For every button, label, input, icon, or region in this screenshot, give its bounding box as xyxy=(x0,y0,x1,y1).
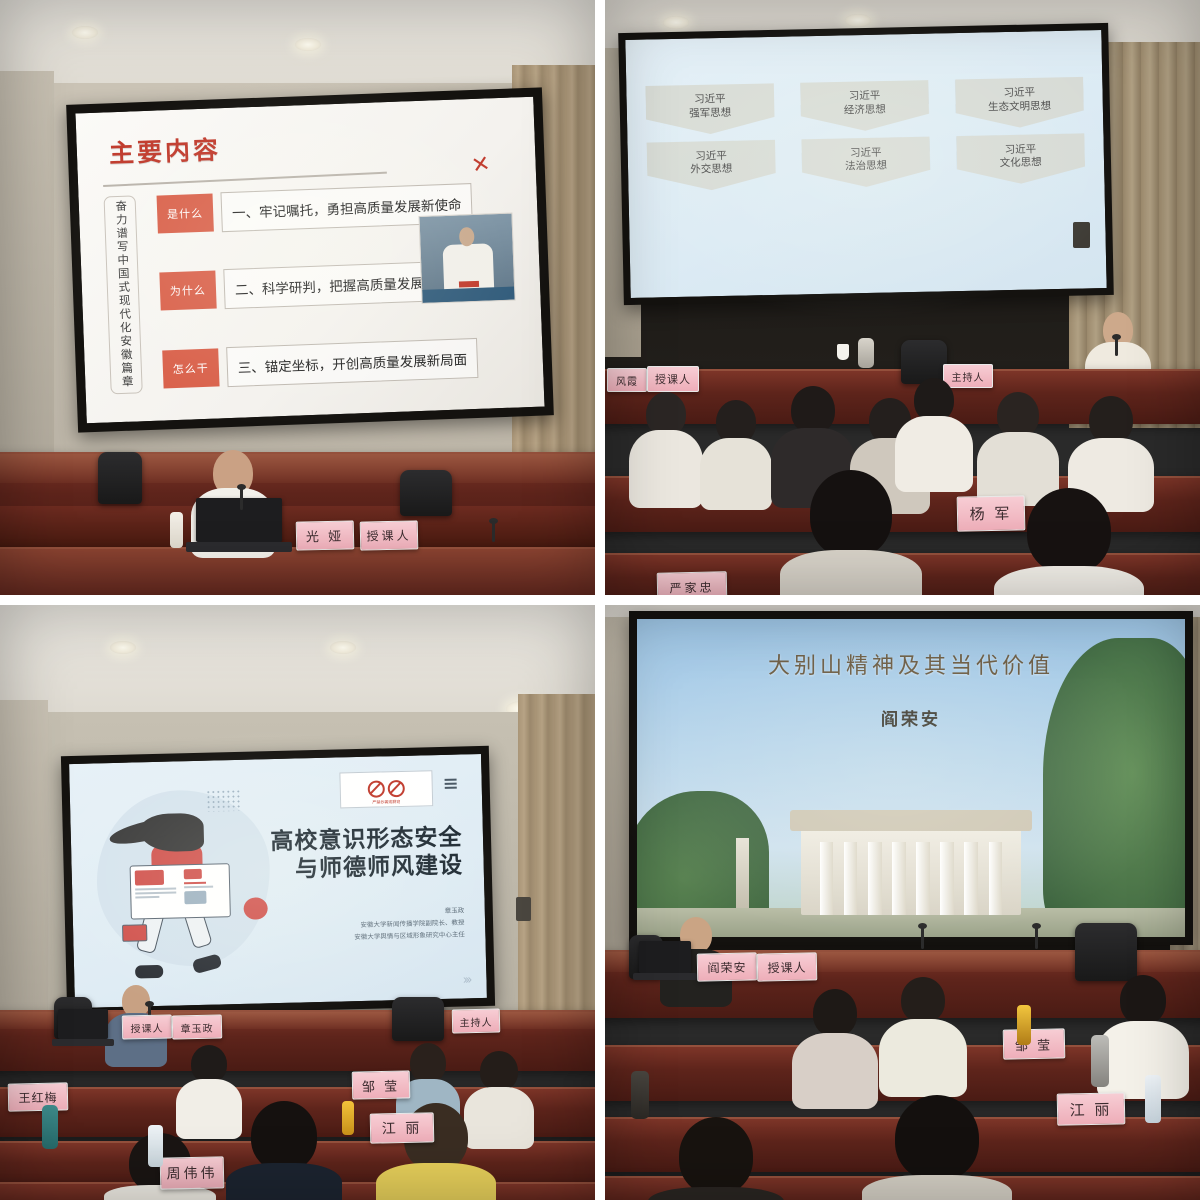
microphone xyxy=(492,522,495,542)
nameplate-text: 授课人 xyxy=(130,1019,163,1035)
person-head xyxy=(191,1045,227,1083)
ceiling-light xyxy=(295,38,321,51)
audience-person xyxy=(799,989,871,1105)
water-bottle xyxy=(170,512,183,548)
prohibition-icon xyxy=(367,781,384,798)
arrow-decoration: ››› xyxy=(463,971,470,986)
card-thumbnail xyxy=(184,869,203,879)
thought-box-grid: 习近平 强军思想 习近平 经济思想 习近平 生态文明思想 习近平 外交思想 习近… xyxy=(645,77,1085,185)
person-body xyxy=(648,1187,784,1200)
front-table xyxy=(0,547,595,595)
nameplate-text: 周伟伟 xyxy=(166,1162,217,1183)
card-line xyxy=(135,888,176,891)
person-body xyxy=(792,1033,878,1109)
nameplate-role: 授课人 xyxy=(647,366,699,392)
person-head xyxy=(410,1043,446,1083)
person-body xyxy=(994,566,1144,595)
inset-desk xyxy=(422,286,514,303)
photo-collage: 主要内容 ✕ 奋力谱写中国式现代化安徽篇章 是什么 一、牢记嘱托，勇担高质量发展… xyxy=(0,0,1200,1200)
slide-main-content: 主要内容 ✕ 奋力谱写中国式现代化安徽篇章 是什么 一、牢记嘱托，勇担高质量发展… xyxy=(75,97,544,424)
nameplate-text: 杨 军 xyxy=(969,503,1012,525)
person-head xyxy=(895,1095,979,1181)
person-body xyxy=(700,438,772,510)
water-bottle xyxy=(148,1125,163,1167)
thermos xyxy=(631,1071,649,1119)
nameplate-text: 阎荣安 xyxy=(707,958,746,976)
thought-box: 习近平 文化思想 xyxy=(956,133,1085,185)
nameplate-text: 章玉政 xyxy=(180,1019,213,1035)
slide-dabieshan-spirit: 大别山精神及其当代价值 阎荣安 xyxy=(637,619,1185,937)
thought-box: 习近平 生态文明思想 xyxy=(955,77,1084,129)
person-head xyxy=(901,977,945,1023)
lecture-room-3: 严禁抄袭或剽窃 高校意识形态安全 与师德师风建设 章玉政 安徽大学新闻传播学院副… xyxy=(0,605,595,1200)
person-body xyxy=(176,1079,242,1139)
thought-box: 习近平 法治思想 xyxy=(801,136,930,188)
nameplate-audience: 江 丽 xyxy=(370,1112,435,1143)
chair xyxy=(392,997,444,1041)
nameplate-text: 主持人 xyxy=(459,1013,492,1029)
nameplate-audience: 周伟伟 xyxy=(160,1156,225,1189)
audience-person xyxy=(180,1045,238,1137)
person-body xyxy=(376,1163,496,1200)
person-head xyxy=(810,470,892,558)
ceiling-light xyxy=(110,641,136,654)
person-head xyxy=(813,989,857,1037)
nameplate-text: 江 丽 xyxy=(1069,1098,1112,1120)
nameplate-text: 邹 莹 xyxy=(362,1075,401,1095)
nameplate-text: 风霞 xyxy=(616,373,638,388)
card-line xyxy=(135,896,160,899)
audience-person-foreground xyxy=(877,1095,997,1200)
outline-row: 怎么干 三、锚定坐标，开创高质量发展新局面 xyxy=(162,338,479,390)
handheld-microphone xyxy=(1115,338,1118,356)
water-bottle xyxy=(1145,1075,1161,1123)
desk-top xyxy=(0,454,595,483)
paper-cup xyxy=(837,344,849,360)
projector-screen-frame: 大别山精神及其当代价值 阎荣安 xyxy=(629,611,1193,945)
photo-panel-bottom-left[interactable]: 严禁抄袭或剽窃 高校意识形态安全 与师德师风建设 章玉政 安徽大学新闻传播学院副… xyxy=(0,605,595,1200)
juice-bottle xyxy=(1017,1005,1031,1045)
wood-wall-right xyxy=(518,694,595,1033)
audience-person-foreground xyxy=(1009,488,1129,595)
nameplate-text: 授课人 xyxy=(767,958,806,976)
audience-person-foreground xyxy=(791,470,911,595)
nameplate-speaker: 光 娅 xyxy=(296,520,355,550)
wall-panel-left xyxy=(0,700,48,1033)
nameplate-moderator: 主持人 xyxy=(452,1009,500,1034)
laptop[interactable] xyxy=(639,941,691,973)
wall-panel-left xyxy=(0,71,54,464)
nameplate-text: 严家忠 xyxy=(669,578,714,595)
illustration-avatar-icon xyxy=(244,897,268,920)
person-body xyxy=(780,550,922,595)
nameplate-text: 江 丽 xyxy=(382,1118,423,1139)
laptop[interactable] xyxy=(58,1009,108,1039)
photo-panel-bottom-right[interactable]: 大别山精神及其当代价值 阎荣安 阎荣安 授课人 xyxy=(605,605,1200,1200)
nameplate-role: 授课人 xyxy=(122,1014,172,1039)
nameplate-role: 授课人 xyxy=(360,520,419,550)
audience-person-foreground xyxy=(236,1101,332,1200)
person-head xyxy=(1089,396,1133,444)
audience-person-foreground xyxy=(661,1117,771,1200)
chair xyxy=(1075,923,1137,981)
slide-ideology-cover: 严禁抄袭或剽窃 高校意识形态安全 与师德师风建设 章玉政 安徽大学新闻传播学院副… xyxy=(69,754,487,1008)
slide-author: 阎荣安 xyxy=(637,705,1185,730)
monument xyxy=(736,838,750,908)
person-body xyxy=(879,1019,967,1097)
slide-subtitle: 章玉政 安徽大学新闻传播学院副院长、教授 安徽大学舆情与区域形象研究中心主任 xyxy=(266,906,465,947)
audience-person xyxy=(887,977,959,1095)
audience-person xyxy=(705,400,767,505)
audience-person xyxy=(633,392,699,502)
outline-tag: 是什么 xyxy=(156,193,213,233)
nameplate-audience: 王红梅 xyxy=(8,1082,69,1111)
person-body xyxy=(629,430,703,508)
nameplate-audience: 杨 军 xyxy=(957,495,1026,531)
memorial-building xyxy=(801,819,1020,914)
photo-panel-top-right[interactable]: 习近平 强军思想 习近平 经济思想 习近平 生态文明思想 习近平 外交思想 习近… xyxy=(605,0,1200,595)
thought-box: 习近平 外交思想 xyxy=(647,140,776,192)
thermos xyxy=(858,338,874,368)
slide-xi-thought-boxes: 习近平 强军思想 习近平 经济思想 习近平 生态文明思想 习近平 外交思想 习近… xyxy=(625,30,1106,298)
card-line xyxy=(135,892,176,895)
person-body xyxy=(862,1175,1012,1200)
nameplate-text: 授课人 xyxy=(366,527,411,545)
bird-logo-icon: ✕ xyxy=(469,150,492,179)
inset-nameplate xyxy=(459,280,479,287)
nameplate-role: 授课人 xyxy=(757,952,818,981)
person-body xyxy=(1097,1021,1189,1099)
card-block xyxy=(184,891,207,905)
slide-title-line2: 与师德师风建设 xyxy=(265,851,463,884)
projector-screen: 习近平 强军思想 习近平 经济思想 习近平 生态文明思想 习近平 外交思想 习近… xyxy=(625,30,1106,298)
side-label-text: 奋力谱写中国式现代化安徽篇章 xyxy=(113,200,134,389)
prohibition-icon xyxy=(387,780,404,797)
microphone xyxy=(921,927,924,949)
illustration-browser-card xyxy=(129,864,230,920)
title-underline xyxy=(103,172,387,187)
person-body xyxy=(226,1163,342,1200)
projector-screen: 大别山精神及其当代价值 阎荣安 xyxy=(637,619,1185,937)
badge-caption: 严禁抄袭或剽窃 xyxy=(341,798,432,806)
thermos xyxy=(1091,1035,1109,1087)
nameplate-audience: 江 丽 xyxy=(1057,1092,1126,1125)
card-line xyxy=(184,886,213,889)
card-line xyxy=(184,882,207,885)
outline-tag: 为什么 xyxy=(159,271,216,311)
chair xyxy=(98,452,142,504)
nameplate-audience: 严家忠 xyxy=(657,571,728,595)
illustration-shoe xyxy=(135,964,163,978)
nameplate-speaker: 章玉政 xyxy=(172,1014,222,1039)
microphone xyxy=(1035,927,1038,949)
projector-screen: 严禁抄袭或剽窃 高校意识形态安全 与师德师风建设 章玉政 安徽大学新闻传播学院副… xyxy=(69,754,487,1008)
nameplate-text: 光 娅 xyxy=(306,526,345,546)
person-head xyxy=(679,1117,753,1195)
card-right xyxy=(179,865,229,917)
wall-speaker-icon xyxy=(516,897,531,921)
wall-speaker-icon xyxy=(1073,222,1090,248)
card-left xyxy=(130,866,180,918)
microphone xyxy=(240,488,243,510)
projector-screen: 主要内容 ✕ 奋力谱写中国式现代化安徽篇章 是什么 一、牢记嘱托，勇担高质量发展… xyxy=(75,97,544,424)
person-head xyxy=(1027,488,1111,574)
tree-right xyxy=(1043,638,1185,937)
photo-panel-top-left[interactable]: 主要内容 ✕ 奋力谱写中国式现代化安徽篇章 是什么 一、牢记嘱托，勇担高质量发展… xyxy=(0,0,595,595)
ceiling-light xyxy=(663,16,689,29)
nameplate-text: 王红梅 xyxy=(18,1088,57,1106)
building-columns xyxy=(815,842,1008,915)
audience-person xyxy=(1105,975,1181,1097)
building-roof xyxy=(790,810,1031,831)
thought-box: 习近平 强军思想 xyxy=(645,83,774,135)
person-head xyxy=(791,386,835,434)
nameplate-audience: 邹 莹 xyxy=(352,1070,411,1099)
slide-title: 大别山精神及其当代价值 xyxy=(637,648,1185,680)
projector-screen-frame: 严禁抄袭或剽窃 高校意识形态安全 与师德师风建设 章玉政 安徽大学新闻传播学院副… xyxy=(61,746,495,1016)
projector-screen-frame: 习近平 强军思想 习近平 经济思想 习近平 生态文明思想 习近平 外交思想 习近… xyxy=(618,23,1114,305)
lecture-room-1: 主要内容 ✕ 奋力谱写中国式现代化安徽篇章 是什么 一、牢记嘱托，勇担高质量发展… xyxy=(0,0,595,595)
projector-screen-frame: 主要内容 ✕ 奋力谱写中国式现代化安徽篇章 是什么 一、牢记嘱托，勇担高质量发展… xyxy=(66,87,554,432)
nameplate-speaker: 阎荣安 xyxy=(697,952,758,981)
slide-title: 主要内容 xyxy=(108,130,221,170)
person-head xyxy=(480,1051,518,1091)
nameplate-text: 授课人 xyxy=(655,371,691,387)
juice-bottle xyxy=(342,1101,354,1135)
slide-inset-photo xyxy=(419,212,516,304)
lecture-room-2: 习近平 强军思想 习近平 经济思想 习近平 生态文明思想 习近平 外交思想 习近… xyxy=(605,0,1200,595)
hamburger-menu-icon[interactable] xyxy=(445,777,457,792)
laptop[interactable] xyxy=(196,498,282,542)
person-head xyxy=(251,1101,317,1171)
ceiling-light xyxy=(330,641,356,654)
nameplate-partial: 风霞 xyxy=(607,368,647,392)
thermos xyxy=(42,1105,58,1149)
person-head xyxy=(1120,975,1166,1025)
audience-person xyxy=(983,392,1053,502)
nameplate-audience: 邹 莹 xyxy=(1003,1028,1066,1059)
illustration-shoe xyxy=(192,953,223,974)
chair xyxy=(400,470,452,516)
lecture-room-4: 大别山精神及其当代价值 阎荣安 阎荣安 授课人 xyxy=(605,605,1200,1200)
slide-side-label: 奋力谱写中国式现代化安徽篇章 xyxy=(104,195,143,394)
thought-box: 习近平 经济思想 xyxy=(800,80,929,132)
slide-title: 高校意识形态安全 与师德师风建设 xyxy=(264,823,463,884)
outline-tag: 怎么干 xyxy=(162,348,219,388)
ceiling-light xyxy=(845,14,871,27)
illustration-person xyxy=(120,808,264,982)
outline-text: 三、锚定坐标，开创高质量发展新局面 xyxy=(226,338,479,387)
illustration-chip xyxy=(122,924,147,942)
card-thumbnail xyxy=(135,870,164,885)
ceiling-light xyxy=(72,26,98,39)
warning-badge: 严禁抄袭或剽窃 xyxy=(339,770,432,808)
